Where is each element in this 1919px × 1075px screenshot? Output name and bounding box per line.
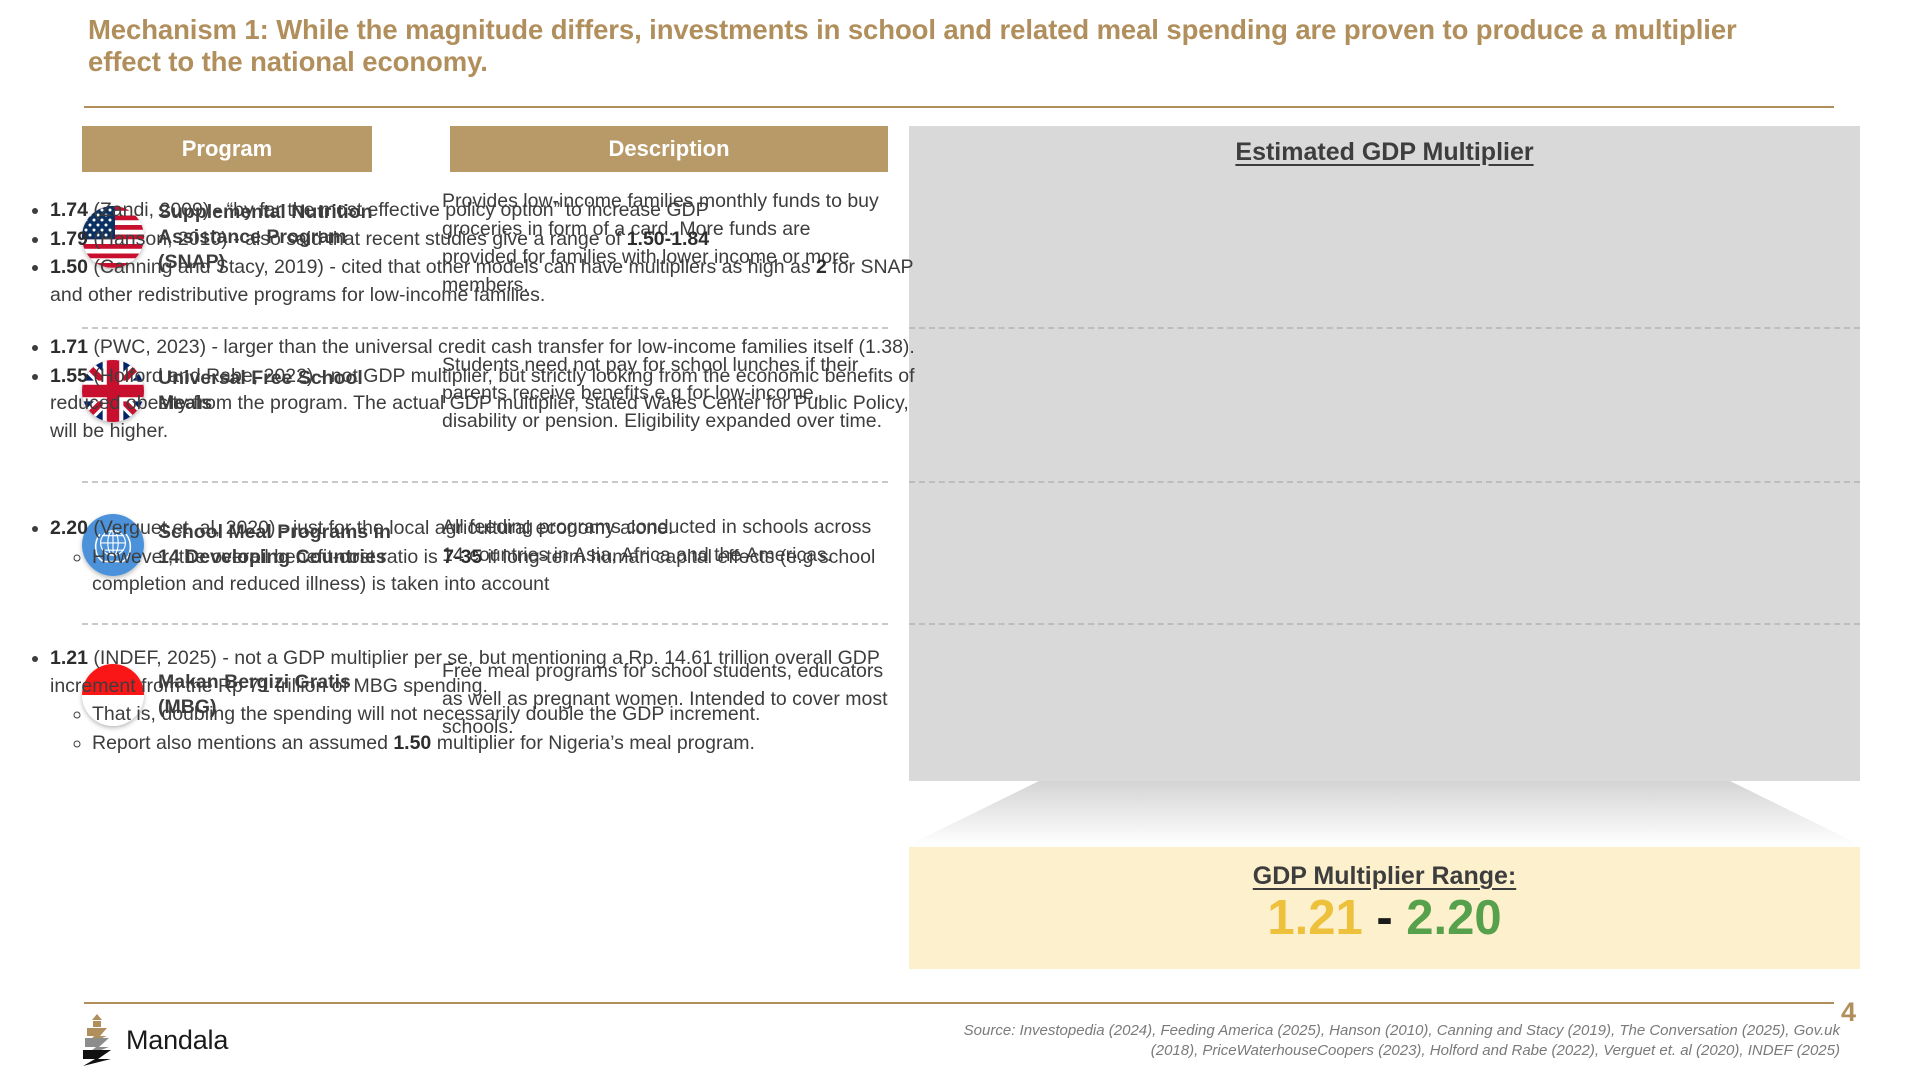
footer-divider (84, 1002, 1834, 1004)
source-line-2: (2018), PriceWaterhouseCoopers (2023), H… (740, 1041, 1840, 1061)
gdp-bullet: 1.50 (Canning and Stacy, 2019) - cited t… (50, 254, 936, 309)
gdp-bullet-group-un: 2.20 (Verguet et. al, 2020) - just for t… (16, 515, 936, 600)
gdp-bullet: 1.79 (Hanson, 2010) - also said that rec… (50, 226, 936, 254)
gdp-bullet: However, the overall benefit-cost ratio … (92, 544, 936, 599)
gdp-multiplier-value: 1.71 (50, 336, 88, 358)
gdp-multiplier-value: 2.20 (50, 517, 88, 539)
gdp-range-title: GDP Multiplier Range: (909, 862, 1860, 891)
row-divider (82, 481, 888, 483)
gdp-sub-bullet-list: However, the overall benefit-cost ratio … (50, 544, 936, 599)
gdp-inline-highlight: 1.50-1.84 (627, 228, 709, 250)
gdp-range-high: 2.20 (1406, 891, 1501, 945)
column-header-program: Program (82, 126, 372, 172)
gdp-inline-highlight: 7-35 (443, 546, 482, 568)
funnel-arrow (909, 781, 1860, 845)
gdp-multiplier-value: 1.50 (50, 256, 88, 278)
mandala-logo-mark (80, 1014, 114, 1066)
title-divider (84, 106, 1834, 108)
gdp-bullet: 1.55 (Holford and Rabe, 2022) - not GDP … (50, 363, 936, 446)
gdp-inline-highlight: 2 (816, 256, 827, 278)
panel-divider (909, 327, 1860, 329)
gdp-bullet-list: 2.20 (Verguet et. al, 2020) - just for t… (16, 515, 936, 599)
gdp-bullet-list: 1.71 (PWC, 2023) - larger than the unive… (16, 334, 936, 446)
gdp-panel-title: Estimated GDP Multiplier (909, 138, 1860, 167)
panel-divider (909, 481, 1860, 483)
gdp-range-dash: - (1376, 891, 1392, 945)
gdp-sub-bullet-list: That is, doubling the spending will not … (50, 701, 936, 757)
panel-divider (909, 623, 1860, 625)
gdp-bullet: 2.20 (Verguet et. al, 2020) - just for t… (50, 515, 936, 599)
gdp-bullet: 1.71 (PWC, 2023) - larger than the unive… (50, 334, 936, 362)
column-header-description: Description (450, 126, 888, 172)
row-divider (82, 327, 888, 329)
gdp-inline-highlight: 1.50 (393, 732, 431, 754)
mandala-logo-text: Mandala (126, 1025, 228, 1056)
gdp-range-values: 1.21 - 2.20 (909, 893, 1860, 944)
gdp-multiplier-value: 1.74 (50, 199, 88, 221)
gdp-multiplier-panel: Estimated GDP Multiplier (909, 126, 1860, 781)
gdp-multiplier-value: 1.55 (50, 365, 88, 387)
gdp-bullet: Report also mentions an assumed 1.50 mul… (92, 730, 936, 758)
row-divider (82, 623, 888, 625)
source-line-1: Source: Investopedia (2024), Feeding Ame… (740, 1021, 1840, 1041)
gdp-bullet: 1.21 (INDEF, 2025) - not a GDP multiplie… (50, 645, 936, 758)
gdp-bullet: 1.74 (Zandi, 2009) - “by far the most ef… (50, 197, 936, 225)
gdp-range-low: 1.21 (1267, 891, 1362, 945)
gdp-bullet-group-mbg: 1.21 (INDEF, 2025) - not a GDP multiplie… (16, 645, 936, 759)
source-citation: Source: Investopedia (2024), Feeding Ame… (740, 1021, 1840, 1061)
gdp-multiplier-value: 1.79 (50, 228, 88, 250)
gdp-bullet-list: 1.21 (INDEF, 2025) - not a GDP multiplie… (16, 645, 936, 758)
gdp-range-box: GDP Multiplier Range: 1.21 - 2.20 (909, 847, 1860, 969)
page-number: 4 (1841, 997, 1856, 1028)
gdp-bullet-group-snap: 1.74 (Zandi, 2009) - “by far the most ef… (16, 197, 936, 311)
mandala-logo: Mandala (80, 1014, 228, 1066)
page-title: Mechanism 1: While the magnitude differs… (88, 14, 1788, 78)
gdp-bullet-list: 1.74 (Zandi, 2009) - “by far the most ef… (16, 197, 936, 310)
gdp-bullet: That is, doubling the spending will not … (92, 701, 936, 729)
gdp-multiplier-value: 1.21 (50, 647, 88, 669)
gdp-bullet-group-uk: 1.71 (PWC, 2023) - larger than the unive… (16, 334, 936, 447)
